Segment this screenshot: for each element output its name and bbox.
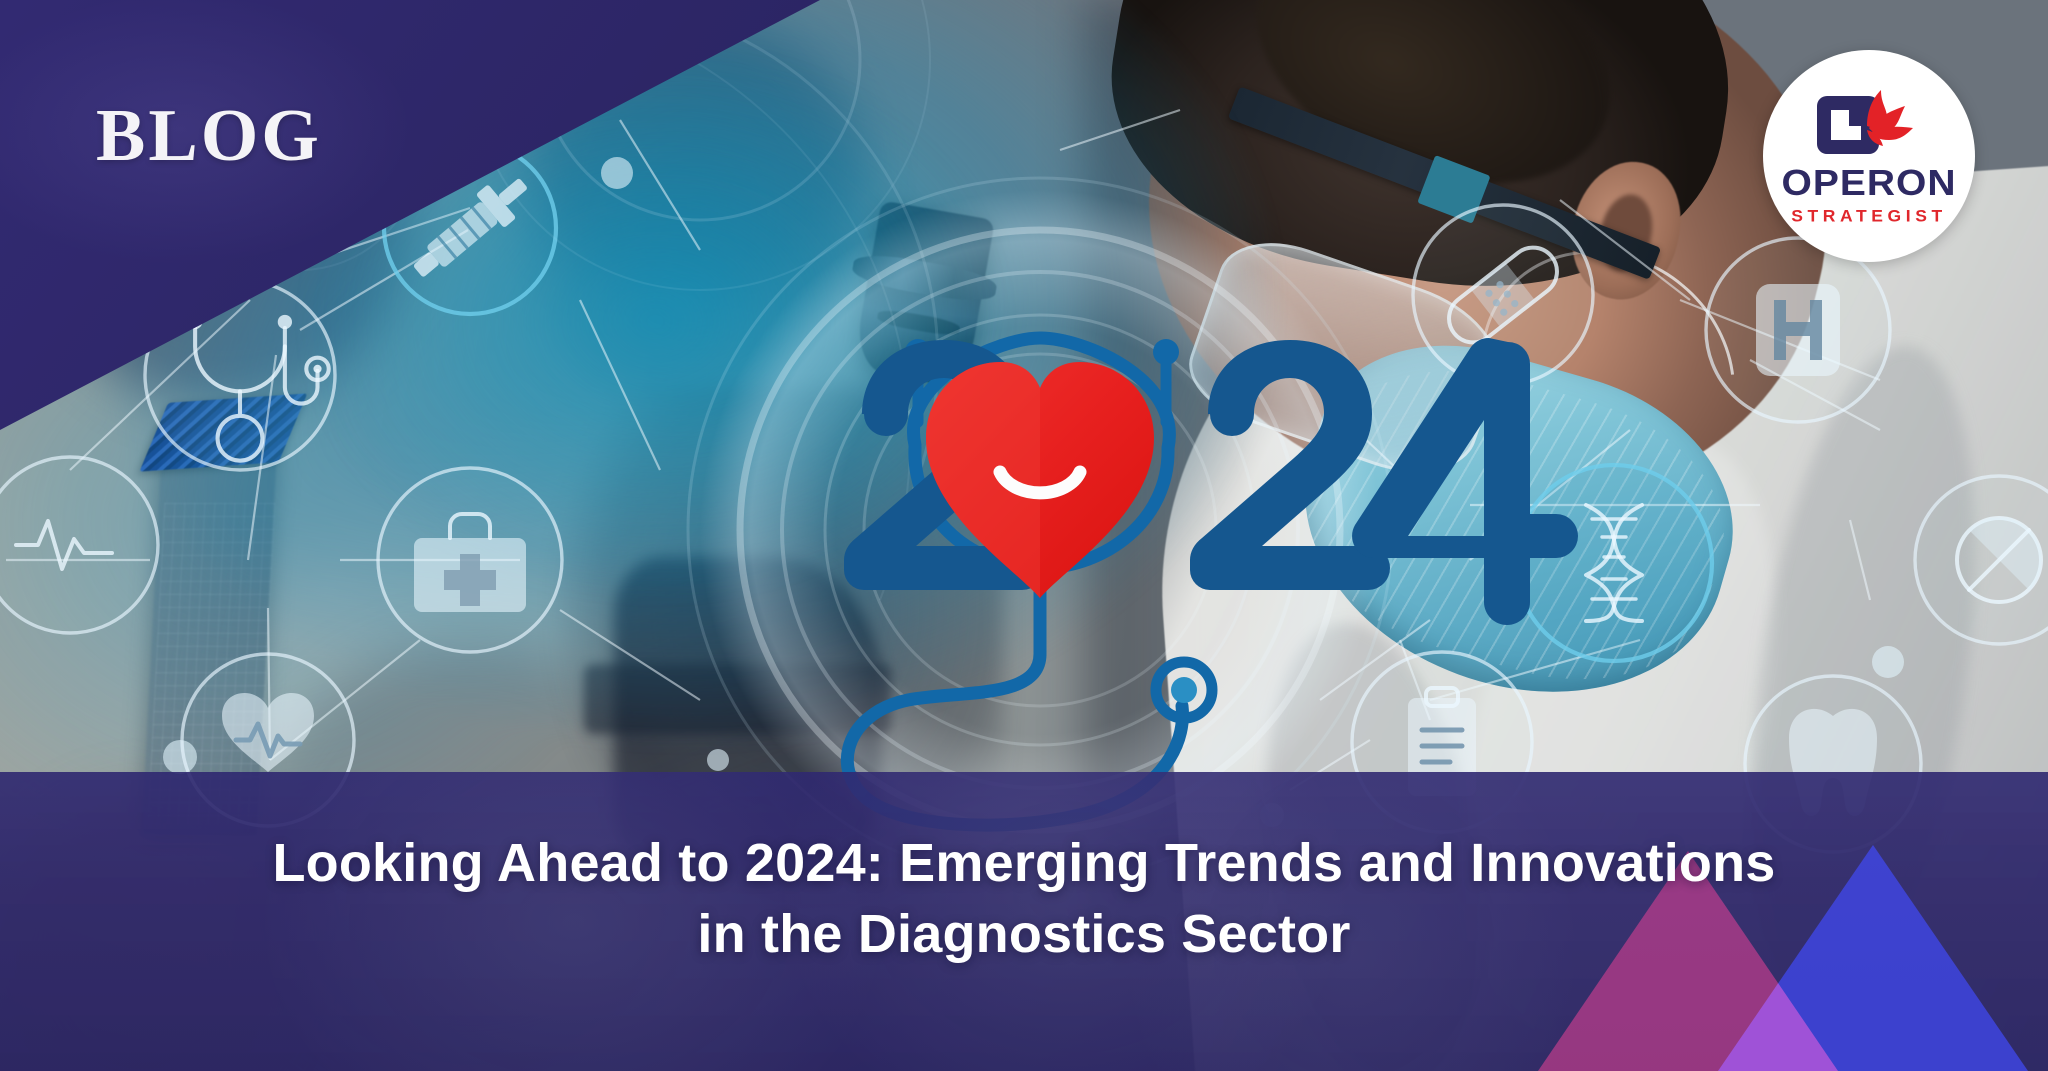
logo-tagline: STRATEGIST	[1791, 209, 1947, 226]
blog-hero-banner: .nline { stroke:rgba(240,250,255,.52); s…	[0, 0, 2048, 1071]
operon-strategist-logo[interactable]: OPERON STRATEGIST	[1763, 50, 1975, 262]
title-overlay-band: Looking Ahead to 2024: Emerging Trends a…	[0, 772, 2048, 1071]
flame-square-icon	[1809, 88, 1929, 162]
title-line-1: Looking Ahead to 2024: Emerging Trends a…	[273, 833, 1776, 893]
blog-label: BLOG	[96, 94, 322, 179]
logo-wordmark: OPERON	[1781, 166, 1956, 202]
title-line-2: in the Diagnostics Sector	[60, 899, 1988, 970]
page-title: Looking Ahead to 2024: Emerging Trends a…	[0, 772, 2048, 971]
